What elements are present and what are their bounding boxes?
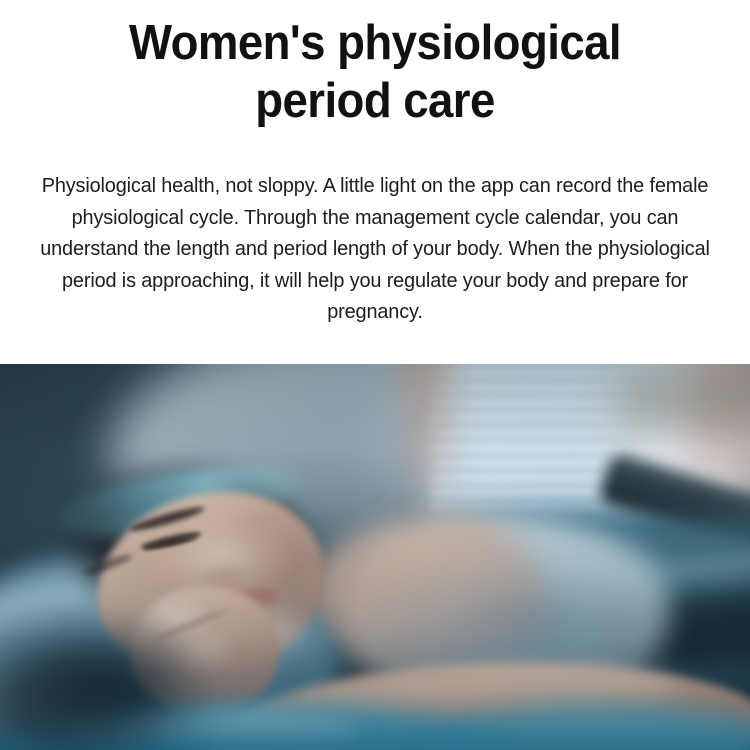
khaki-fabric — [620, 374, 750, 434]
foreground-blur-2 — [0, 664, 140, 750]
warm-wall-strip — [405, 364, 451, 534]
lifestyle-photo — [0, 364, 750, 750]
page-title: Women's physiological period care — [26, 14, 724, 130]
description-paragraph: Physiological health, not sloppy. A litt… — [33, 170, 718, 328]
text-block: Women's physiological period care Physio… — [0, 0, 750, 365]
promo-page: Women's physiological period care Physio… — [0, 0, 750, 750]
